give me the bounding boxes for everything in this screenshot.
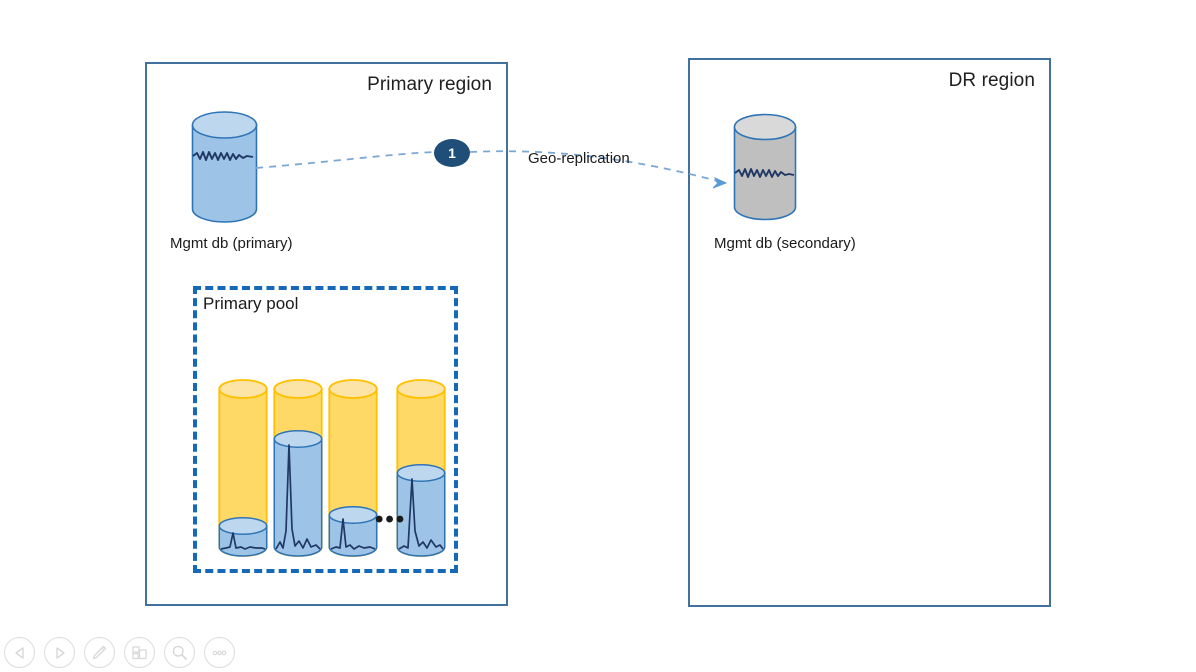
cylinder-shape-icon [733,113,797,221]
previous-page-button[interactable] [4,637,35,668]
layers-button[interactable] [124,637,155,668]
triangle-left-icon [13,646,27,660]
mgmt-db-secondary-label: Mgmt db (secondary) [714,235,856,252]
database-capacity-cylinder-icon [328,379,378,557]
pool-ellipsis-indicator: ••• [375,508,406,532]
primary-pool-title: Primary pool [203,294,298,314]
step-badge-label: 1 [448,145,456,161]
bottom-toolbar [4,637,235,668]
pool-database-1[interactable] [218,379,268,557]
triangle-right-icon [53,646,67,660]
ellipsis-icon [211,649,228,657]
zoom-button[interactable] [164,637,195,668]
diagram-canvas: Primary region Mgmt db (primary) Primary… [0,0,1196,672]
step-badge-1[interactable]: 1 [434,139,470,167]
pool-database-3[interactable] [328,379,378,557]
edit-button[interactable] [84,637,115,668]
region-dr-title: DR region [949,70,1035,92]
pool-database-2[interactable] [273,379,323,557]
region-primary-title: Primary region [367,74,492,96]
database-capacity-cylinder-icon [273,379,323,557]
database-capacity-cylinder-icon [218,379,268,557]
more-options-button[interactable] [204,637,235,668]
shapes-icon [131,645,148,661]
next-page-button[interactable] [44,637,75,668]
cylinder-shape-icon [191,110,258,224]
pen-icon [91,644,108,661]
mgmt-db-primary-cylinder[interactable] [191,110,258,224]
mgmt-db-secondary-cylinder[interactable] [733,113,797,221]
magnifier-icon [171,644,188,661]
geo-replication-label: Geo-replication [528,150,630,167]
mgmt-db-primary-label: Mgmt db (primary) [170,235,293,252]
